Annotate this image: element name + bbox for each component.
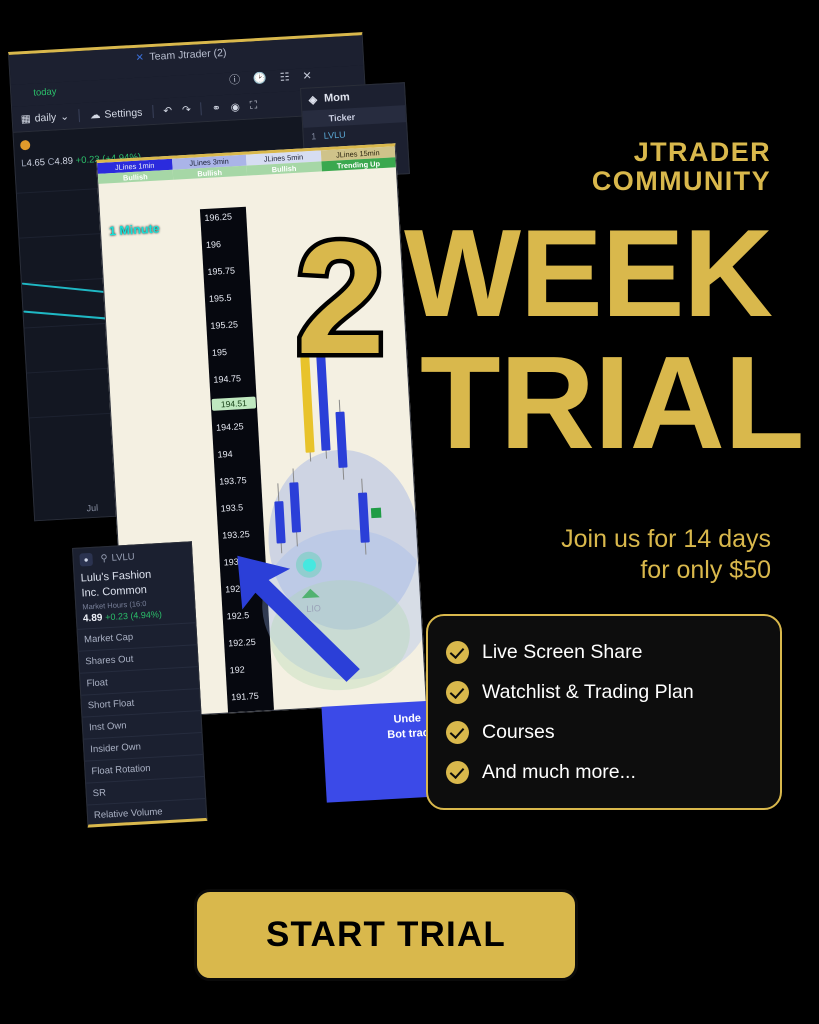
check-circle-icon — [446, 641, 469, 664]
stat-label: Float — [86, 678, 108, 690]
candle-body — [335, 412, 347, 468]
price-value: 4.89 — [83, 613, 103, 625]
price-tick: 195 — [212, 347, 228, 358]
features-panel: Live Screen Share Watchlist & Trading Pl… — [426, 614, 782, 810]
settings-button[interactable]: ☁ Settings — [90, 106, 143, 121]
undo-icon[interactable]: ↶ — [163, 104, 172, 116]
divider — [201, 102, 203, 115]
close-icon[interactable]: ✕ — [135, 52, 144, 63]
feature-label: And much more... — [482, 761, 636, 784]
fullscreen-icon[interactable]: ⛶ — [249, 99, 257, 112]
subtitle: Join us for 14 days for only $50 — [411, 524, 771, 586]
flame-icon: ◈ — [308, 93, 317, 106]
feature-item: And much more... — [446, 761, 762, 784]
brand-heading: JTRADER COMMUNITY — [431, 138, 771, 196]
today-label: today — [33, 86, 57, 98]
stat-label: Short Float — [88, 698, 135, 712]
redo-icon[interactable]: ↷ — [182, 103, 191, 115]
jlines-column[interactable]: JLines 5min Bullish — [246, 150, 322, 175]
headline-number: 2 — [296, 218, 385, 378]
feature-label: Watchlist & Trading Plan — [482, 681, 694, 704]
price-tick: 195.5 — [209, 293, 232, 304]
price-tick: 194.25 — [216, 421, 244, 433]
window-tab-title[interactable]: Team Jtrader (2) — [149, 47, 227, 63]
chart-timeframe-label: 1 Minute — [109, 222, 160, 239]
price-tick: 195.25 — [210, 319, 238, 331]
jlines-column[interactable]: JLines 1min Bullish — [97, 159, 173, 184]
brand-line-2: COMMUNITY — [431, 167, 771, 196]
feature-item: Live Screen Share — [446, 641, 762, 664]
annotation-arrow-icon — [226, 523, 427, 716]
price-tick: 196.25 — [204, 212, 232, 224]
row-ticker[interactable]: LVLU — [323, 129, 345, 140]
clock-icon[interactable]: 🕑 — [253, 74, 267, 86]
promo-banner: ✕ Team Jtrader (2) today ⓘ 🕑 ☷ ✕ ▦ daily… — [0, 0, 819, 1024]
magnet-icon[interactable]: ⚭ — [212, 102, 221, 114]
stock-stats-panel[interactable]: ● ⚲ LVLU Lulu's Fashion Inc. Common Mark… — [72, 541, 207, 827]
search-input[interactable]: ⚲ LVLU — [100, 551, 135, 564]
subtitle-line-2: for only $50 — [411, 555, 771, 586]
headline-week: WEEK — [404, 222, 772, 326]
stat-label: Insider Own — [90, 742, 141, 756]
current-price-marker: 194.51 — [212, 396, 257, 410]
check-circle-icon — [446, 681, 469, 704]
stat-label: Float Rotation — [91, 763, 151, 777]
share-icon[interactable]: ☷ — [279, 72, 289, 84]
jlines-column[interactable]: JLines 15min Trending Up — [320, 146, 396, 171]
price-tick: 196 — [206, 239, 222, 250]
headline-trial: TRIAL — [420, 348, 804, 459]
help-icon[interactable]: ⓘ — [229, 75, 241, 87]
price-tick: 193.75 — [219, 475, 247, 487]
divider — [79, 109, 81, 122]
chevron-down-icon: ⌄ — [60, 110, 69, 122]
settings-label: Settings — [104, 106, 143, 120]
feature-label: Live Screen Share — [482, 641, 642, 664]
price-tick: 194 — [217, 449, 233, 460]
grid-icon: ▦ — [20, 112, 31, 125]
window-tool-icons: ⓘ 🕑 ☷ ✕ — [229, 71, 312, 87]
alert-dot-icon — [20, 140, 31, 151]
check-circle-icon — [446, 761, 469, 784]
subtitle-line-1: Join us for 14 days — [411, 524, 771, 555]
stat-label: Market Cap — [84, 632, 134, 646]
stat-label: SR — [92, 788, 106, 800]
cloud-icon: ☁ — [90, 108, 101, 121]
stat-label: Inst Own — [89, 721, 127, 734]
feature-item: Courses — [446, 721, 762, 744]
stat-label: Shares Out — [85, 654, 134, 668]
divider — [152, 105, 154, 118]
row-index: 1 — [303, 130, 324, 141]
callout-line-2: Bot trac — [387, 727, 429, 741]
timeframe-label: daily — [34, 111, 56, 124]
search-icon: ⚲ — [100, 553, 108, 564]
close-value: 4.89 — [54, 156, 73, 168]
price-tick: 195.75 — [207, 265, 235, 277]
feature-item: Watchlist & Trading Plan — [446, 681, 762, 704]
price-tick: 193.5 — [220, 502, 243, 513]
stat-value: $2 — [190, 827, 201, 828]
close-icon[interactable]: ✕ — [302, 71, 312, 82]
price-tick: 194.75 — [213, 373, 241, 385]
feature-label: Courses — [482, 721, 555, 744]
target-icon[interactable]: ◉ — [230, 101, 240, 113]
buy-marker-icon — [371, 508, 382, 519]
start-trial-button[interactable]: START TRIAL — [194, 889, 578, 981]
scanner-title: Mom — [324, 91, 350, 104]
brand-line-1: JTRADER — [431, 138, 771, 167]
price-change: +0.23 (4.94%) — [105, 609, 162, 622]
app-logo-icon: ● — [79, 552, 93, 566]
stat-label: Relative Volume — [94, 807, 163, 822]
month-label: Jul — [86, 503, 98, 514]
callout-line-1: Unde — [393, 712, 421, 726]
check-circle-icon — [446, 721, 469, 744]
search-value: LVLU — [111, 551, 135, 563]
timeframe-selector[interactable]: ▦ daily ⌄ — [20, 110, 69, 125]
low-value: 4.65 — [26, 157, 45, 169]
jlines-column[interactable]: JLines 3min Bullish — [172, 155, 248, 180]
